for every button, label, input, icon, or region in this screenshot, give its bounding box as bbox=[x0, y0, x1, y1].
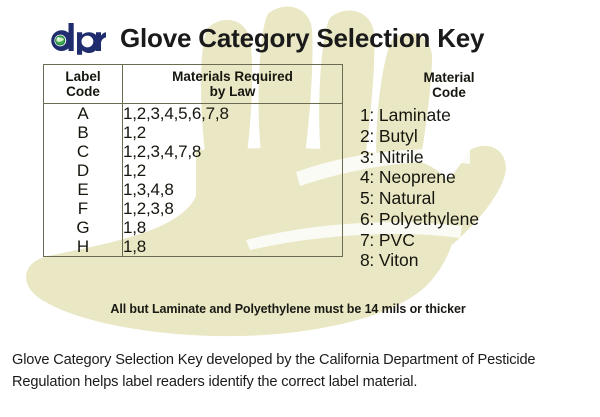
legend-item-number: 5: bbox=[360, 188, 374, 208]
figure-header: Glove Category Selection Key bbox=[44, 18, 484, 58]
legend-title-line1: Material bbox=[374, 70, 524, 85]
column-header-materials-line2: by Law bbox=[123, 84, 342, 99]
cell-label-code: F bbox=[44, 199, 123, 218]
dpr-logo-icon bbox=[44, 21, 106, 55]
cell-materials: 1,2,3,4,5,6,7,8 bbox=[123, 104, 343, 124]
legend-item-number: 8: bbox=[360, 250, 374, 270]
cell-label-code: E bbox=[44, 180, 123, 199]
legend-item: 5: Natural bbox=[360, 188, 590, 209]
table-head: Label Code Materials Required by Law bbox=[44, 65, 343, 104]
legend-item-name: PVC bbox=[379, 230, 415, 250]
material-code-legend-title: Material Code bbox=[374, 70, 524, 100]
cell-label-code: A bbox=[44, 104, 123, 124]
cell-materials: 1,8 bbox=[123, 218, 343, 237]
legend-item: 6: Polyethylene bbox=[360, 209, 590, 230]
table-row: B 1,2 bbox=[44, 123, 343, 142]
legend-item-name: Natural bbox=[379, 188, 435, 208]
legend-item-name: Nitrile bbox=[379, 147, 424, 167]
cell-label-code: H bbox=[44, 237, 123, 257]
column-header-materials-line1: Materials Required bbox=[123, 69, 342, 84]
cell-label-code: G bbox=[44, 218, 123, 237]
table-header-row: Label Code Materials Required by Law bbox=[44, 65, 343, 104]
table-row: C 1,2,3,4,7,8 bbox=[44, 142, 343, 161]
legend-item: 2: Butyl bbox=[360, 126, 590, 147]
legend-title-line2: Code bbox=[374, 85, 524, 100]
figure-title: Glove Category Selection Key bbox=[120, 25, 484, 51]
column-header-label-code-line2: Code bbox=[44, 84, 122, 99]
legend-item: 7: PVC bbox=[360, 230, 590, 251]
legend-item-name: Viton bbox=[379, 250, 419, 270]
legend-item-number: 6: bbox=[360, 209, 374, 229]
cell-materials: 1,3,4,8 bbox=[123, 180, 343, 199]
legend-item-name: Butyl bbox=[379, 126, 418, 146]
table-row: E 1,3,4,8 bbox=[44, 180, 343, 199]
cell-materials: 1,2,3,8 bbox=[123, 199, 343, 218]
table-body: A 1,2,3,4,5,6,7,8 B 1,2 C 1,2,3,4,7,8 D … bbox=[44, 104, 343, 257]
legend-item: 4: Neoprene bbox=[360, 167, 590, 188]
table-row: G 1,8 bbox=[44, 218, 343, 237]
figure-caption-text: Glove Category Selection Key developed b… bbox=[12, 350, 586, 393]
figure-caption: Glove Category Selection Key developed b… bbox=[0, 338, 600, 417]
legend-item-number: 3: bbox=[360, 147, 374, 167]
column-header-label-code: Label Code bbox=[44, 65, 123, 104]
table-footnote: All but Laminate and Polyethylene must b… bbox=[43, 302, 533, 316]
table-row: H 1,8 bbox=[44, 237, 343, 257]
table-row: F 1,2,3,8 bbox=[44, 199, 343, 218]
legend-item-number: 7: bbox=[360, 230, 374, 250]
legend-item: 1: Laminate bbox=[360, 105, 590, 126]
legend-item: 3: Nitrile bbox=[360, 147, 590, 168]
cell-label-code: C bbox=[44, 142, 123, 161]
table-row: D 1,2 bbox=[44, 161, 343, 180]
legend-item: 8: Viton bbox=[360, 250, 590, 271]
cell-label-code: D bbox=[44, 161, 123, 180]
column-header-materials-required: Materials Required by Law bbox=[123, 65, 343, 104]
legend-item-number: 1: bbox=[360, 105, 374, 125]
legend-item-name: Neoprene bbox=[379, 167, 456, 187]
cell-materials: 1,2 bbox=[123, 123, 343, 142]
column-header-label-code-line1: Label bbox=[44, 69, 122, 84]
cell-materials: 1,2 bbox=[123, 161, 343, 180]
table-row: A 1,2,3,4,5,6,7,8 bbox=[44, 104, 343, 124]
glove-category-table: Label Code Materials Required by Law A 1… bbox=[43, 64, 343, 257]
legend-item-number: 2: bbox=[360, 126, 374, 146]
glove-category-figure: Glove Category Selection Key Label Code … bbox=[0, 0, 600, 338]
legend-item-name: Laminate bbox=[379, 105, 451, 125]
cell-label-code: B bbox=[44, 123, 123, 142]
cell-materials: 1,2,3,4,7,8 bbox=[123, 142, 343, 161]
legend-item-number: 4: bbox=[360, 167, 374, 187]
material-code-legend: Material Code 1: Laminate 2: Butyl 3: Ni… bbox=[360, 66, 590, 271]
cell-materials: 1,8 bbox=[123, 237, 343, 257]
legend-item-name: Polyethylene bbox=[379, 209, 479, 229]
